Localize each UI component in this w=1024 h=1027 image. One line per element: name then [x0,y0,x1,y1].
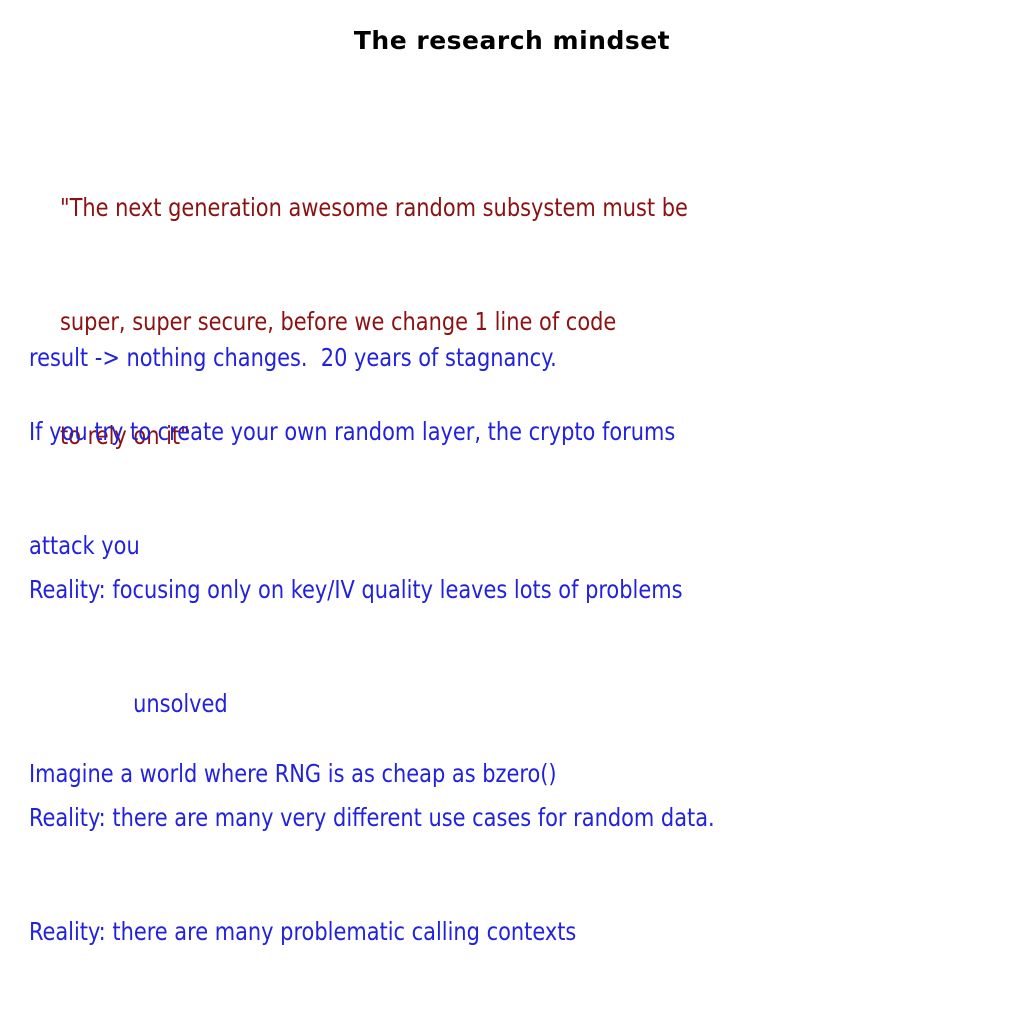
forums-line-1: If you try to create your own random lay… [29,413,675,451]
slide-canvas: The research mindset "The next generatio… [0,0,1024,768]
imagine-text-block: Imagine a world where RNG is as cheap as… [29,679,557,869]
imagine-line-1: Imagine a world where RNG is as cheap as… [29,755,557,793]
reality-line-1: Reality: focusing only on key/IV quality… [29,571,715,609]
reality-line-3: Reality: there are many problematic call… [29,913,715,951]
page-title: The research mindset [0,26,1024,55]
quote-line-1: "The next generation awesome random subs… [60,189,688,227]
